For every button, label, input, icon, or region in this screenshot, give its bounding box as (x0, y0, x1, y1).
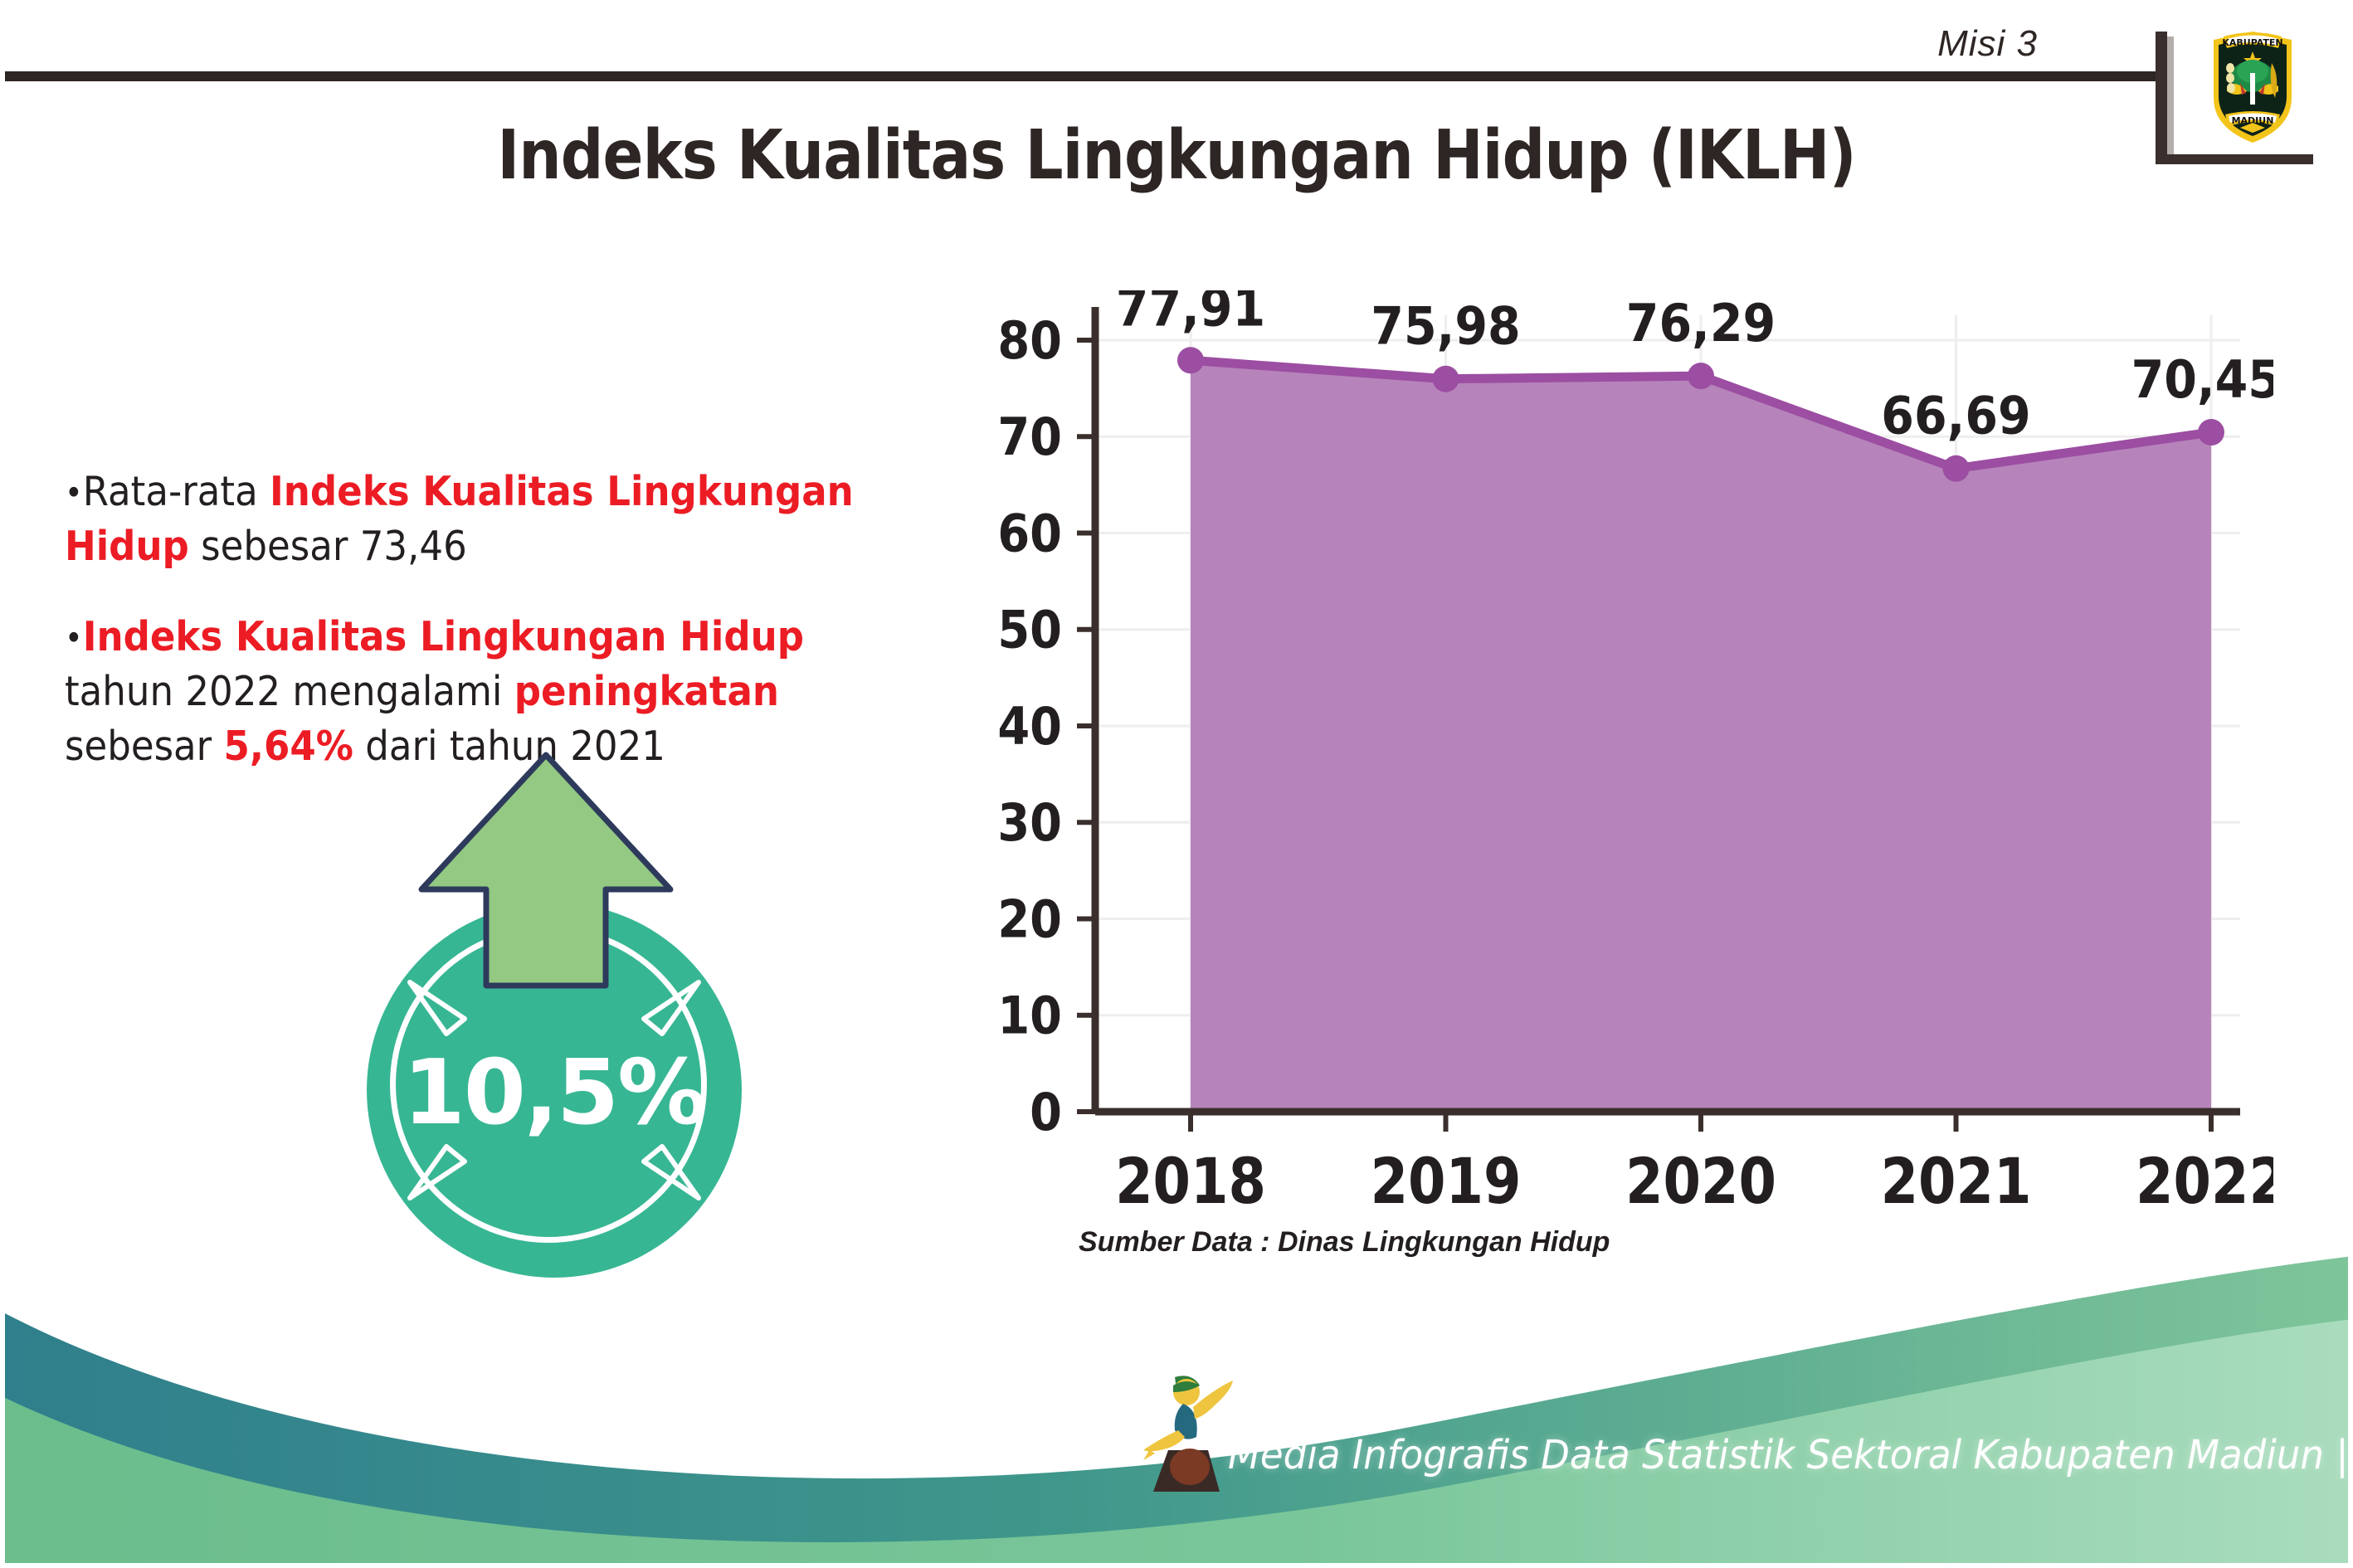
chart-data-point (1943, 455, 1970, 482)
bullet-highlight-text: peningkatan (514, 668, 779, 715)
y-axis-tick-label: 80 (997, 310, 1062, 371)
y-axis-tick-label: 0 (1030, 1082, 1062, 1142)
y-axis-tick-label: 70 (997, 407, 1062, 467)
x-axis-tick-label: 2018 (1115, 1144, 1266, 1218)
bullet-text: Rata-rata (83, 468, 270, 515)
y-axis-tick-label: 40 (997, 696, 1062, 757)
header-divider-rule (0, 71, 2157, 81)
footer-caption: Media Infografis Data Statistik Sektoral… (1228, 1432, 2349, 1478)
kabupaten-madiun-logo-icon: KABUPATEN MADIUN (2207, 22, 2298, 146)
footer-banner: Media Infografis Data Statistik Sektoral… (0, 1220, 2353, 1568)
iklh-area-chart: 77,9175,9876,2966,6970,45010203040506070… (979, 290, 2273, 1220)
y-axis-tick-label: 50 (997, 600, 1062, 660)
chart-value-label: 76,29 (1626, 295, 1776, 354)
bullet-text: sebesar 73,46 (189, 523, 467, 570)
chart-svg: 77,9175,9876,2966,6970,45010203040506070… (979, 290, 2273, 1220)
list-item: •Rata-rata Indeks Kualitas Lingkungan Hi… (65, 465, 919, 573)
chart-area-fill (1191, 360, 2211, 1112)
y-axis-tick-label: 60 (997, 504, 1062, 564)
x-axis-tick-label: 2020 (1625, 1144, 1776, 1218)
bullet-dot-icon: • (65, 475, 83, 513)
logo-top-text: KABUPATEN (2222, 37, 2282, 48)
bullet-highlight-text: Indeks Kualitas Lingkungan Hidup (83, 613, 804, 660)
misi-label: Misi 3 (1937, 23, 2038, 65)
bullet-text: sebesar (65, 723, 224, 770)
dancer-figure-icon (1138, 1371, 1238, 1495)
bullet-dot-icon: • (65, 620, 83, 658)
y-axis-tick-label: 20 (997, 889, 1062, 950)
chart-data-point (2198, 419, 2224, 446)
badge-value-text: 10,5% (367, 1041, 742, 1145)
increase-badge: 10,5% (332, 747, 763, 1211)
chart-data-point (1177, 347, 1204, 373)
x-axis-tick-label: 2021 (1881, 1144, 2032, 1218)
chart-value-label: 70,45 (2131, 351, 2273, 411)
chart-value-label: 75,98 (1371, 298, 1520, 358)
infographic-page: Misi 3 KABUPATEN MADIUN (0, 0, 2353, 1568)
bullet-text: tahun 2022 mengalami (65, 668, 514, 715)
chart-value-label: 66,69 (1881, 387, 2030, 447)
chart-data-point (1433, 366, 1459, 392)
x-axis-tick-label: 2022 (2136, 1144, 2273, 1218)
page-title: Indeks Kualitas Lingkungan Hidup (IKLH) (141, 116, 2212, 195)
y-axis-tick-label: 30 (997, 792, 1062, 853)
chart-value-label: 77,91 (1116, 290, 1265, 338)
chart-data-point (1688, 363, 1714, 389)
x-axis-tick-label: 2019 (1371, 1144, 1522, 1218)
y-axis-tick-label: 10 (997, 986, 1062, 1046)
